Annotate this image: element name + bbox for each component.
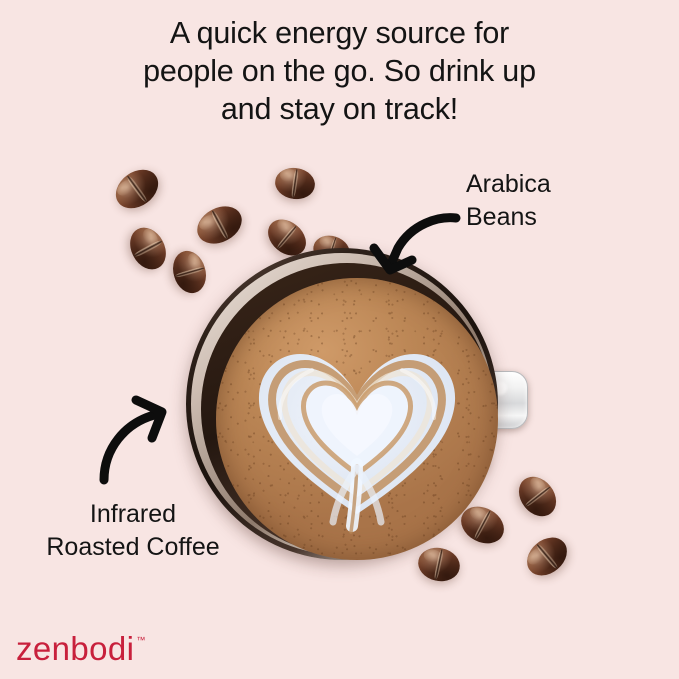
brand-name: zenbodi — [16, 632, 134, 665]
coffee-bean — [273, 165, 317, 201]
brand-logo: zenbodi ™ — [16, 632, 145, 665]
product-infographic: A quick energy source for people on the … — [0, 0, 679, 679]
trademark-symbol: ™ — [136, 634, 145, 646]
callout-infrared-roasted-coffee: Infrared Roasted Coffee — [18, 498, 248, 564]
coffee-bean — [108, 162, 165, 217]
coffee-bean — [123, 221, 173, 275]
coffee-bean — [191, 199, 248, 251]
heart-latte-art — [216, 278, 498, 560]
page-title: A quick energy source for people on the … — [0, 14, 679, 128]
crema-surface — [216, 278, 498, 560]
callout-arabica-beans: Arabica Beans — [466, 168, 551, 234]
coffee-bean — [511, 469, 563, 523]
coffee-bean — [520, 530, 575, 584]
